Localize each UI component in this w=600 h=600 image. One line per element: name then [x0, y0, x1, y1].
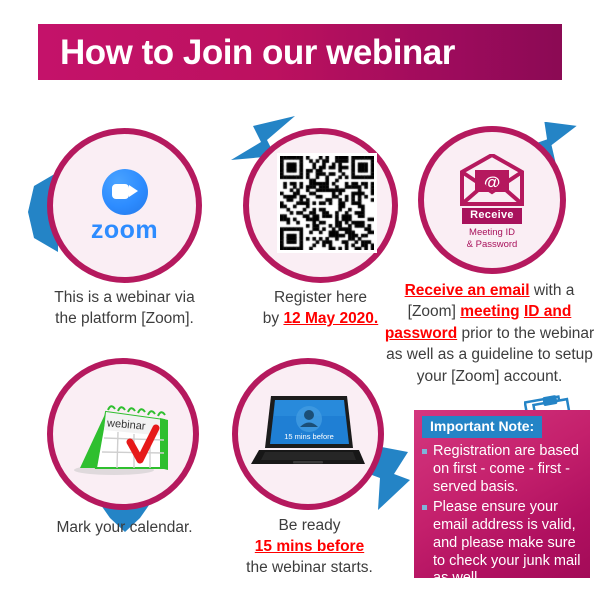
- step-5-caption: Be ready 15 mins before the webinar star…: [222, 516, 397, 579]
- list-item: Please ensure your email address is vali…: [422, 499, 582, 587]
- list-item: Registration are based on first - come -…: [422, 443, 582, 496]
- step-5-caption-line3: the webinar starts.: [222, 558, 397, 579]
- important-note-list: Registration are based on first - come -…: [422, 443, 582, 588]
- infographic-canvas: How to Join our webinar zoom This is a w…: [0, 0, 600, 600]
- step-circle-2: [243, 128, 398, 283]
- important-note-heading: Important Note:: [422, 416, 542, 438]
- laptop-icon: 15 mins before: [238, 364, 378, 504]
- step-circle-4: webinar: [47, 358, 199, 510]
- receive-badge: Receive: [462, 208, 522, 224]
- laptop-screen-label: 15 mins before: [284, 432, 334, 441]
- step-5-caption-line1: Be ready: [222, 516, 397, 537]
- step-4-caption: Mark your calendar.: [22, 518, 227, 539]
- receive-subtext-line2: & Password: [467, 239, 518, 251]
- step-circle-3: @ Receive Meeting ID & Password: [418, 126, 566, 274]
- step-3-description: Receive an email with a [Zoom] meeting I…: [382, 280, 597, 387]
- step-circle-5: 15 mins before: [232, 358, 384, 510]
- envelope-shape-icon: @: [459, 154, 525, 206]
- step-5-caption-emphasis: 15 mins before: [222, 537, 397, 558]
- desk-calendar-icon: webinar: [53, 364, 193, 504]
- qr-code-icon: [277, 153, 377, 253]
- important-note-box: Important Note: Registration are based o…: [414, 410, 590, 578]
- zoom-camera-badge-icon: [102, 169, 148, 215]
- zoom-logo-icon: zoom: [53, 134, 196, 277]
- para-emphasis-1: Receive an email: [405, 282, 530, 299]
- step-2-caption-prefix: by: [263, 310, 284, 327]
- step-1-caption: This is a webinar via the platform [Zoom…: [22, 288, 227, 330]
- envelope-at-icon: @ Receive Meeting ID & Password: [424, 132, 560, 268]
- step-1-caption-line2: the platform [Zoom].: [22, 309, 227, 330]
- step-2-deadline: 12 May 2020.: [283, 310, 378, 327]
- zoom-wordmark: zoom: [91, 218, 158, 243]
- receive-subtext-line1: Meeting ID: [467, 227, 518, 239]
- step-circle-1: zoom: [47, 128, 202, 283]
- step-1-caption-line1: This is a webinar via: [22, 288, 227, 309]
- page-title: How to Join our webinar: [38, 35, 455, 70]
- para-emphasis-2: meeting: [460, 303, 519, 320]
- header-banner: How to Join our webinar: [38, 24, 562, 80]
- receive-subtext: Meeting ID & Password: [467, 227, 518, 251]
